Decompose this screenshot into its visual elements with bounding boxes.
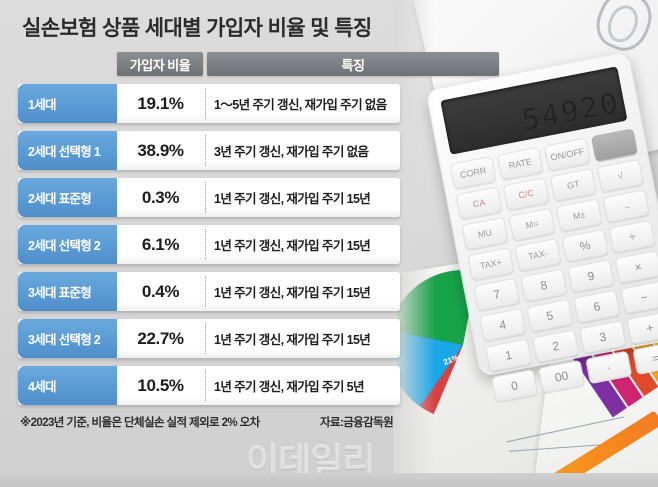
row-generation-label: 3세대 표준형 [18, 272, 117, 311]
row-feature-text: 1년 주기 갱신, 재가입 주기 15년 [214, 319, 396, 358]
row-divider [205, 323, 206, 354]
row-generation-label: 4세대 [18, 366, 117, 405]
row-ratio-value: 22.7% [117, 319, 204, 358]
row-ratio-value: 0.4% [117, 272, 204, 311]
row-generation-label: 2세대 선택형 2 [18, 225, 117, 264]
table-row: 2세대 선택형 1 38.9% 3년 주기 갱신, 재가입 주기 없음 [18, 131, 400, 170]
row-feature-text: 1〜5년 주기 갱신, 재가입 주기 없음 [214, 84, 396, 123]
column-header-feature: 특징 [207, 52, 499, 76]
row-generation-label: 3세대 선택형 2 [18, 319, 117, 358]
data-table: 가입자 비율 특징 1세대 19.1% 1〜5년 주기 갱신, 재가입 주기 없… [18, 52, 400, 405]
table-row: 4세대 10.5% 1년 주기 갱신, 재가입 주기 5년 [18, 366, 400, 405]
bottom-strip [0, 473, 658, 487]
infographic-root: 21% 54920 CORRRATEON/OFF CAC/CGT√ MUM=M±… [0, 0, 658, 487]
table-row: 1세대 19.1% 1〜5년 주기 갱신, 재가입 주기 없음 [18, 84, 400, 123]
table-header-row: 가입자 비율 특징 [117, 52, 400, 76]
row-divider [205, 182, 206, 213]
table-row: 2세대 표준형 0.3% 1년 주기 갱신, 재가입 주기 15년 [18, 178, 400, 217]
row-ratio-value: 0.3% [117, 178, 204, 217]
row-feature-text: 1년 주기 갱신, 재가입 주기 15년 [214, 178, 396, 217]
row-feature-text: 1년 주기 갱신, 재가입 주기 15년 [214, 225, 396, 264]
row-generation-label: 2세대 선택형 1 [18, 131, 117, 170]
row-divider [205, 370, 206, 401]
calculator-keypad: CORRRATEON/OFF CAC/CGT√ MUM=M±→ TAX+TAX-… [450, 128, 658, 365]
table-row: 2세대 선택형 2 6.1% 1년 주기 갱신, 재가입 주기 15년 [18, 225, 400, 264]
row-feature-text: 1년 주기 갱신, 재가입 주기 5년 [214, 366, 396, 405]
row-ratio-value: 6.1% [117, 225, 204, 264]
row-ratio-value: 19.1% [117, 84, 204, 123]
page-title: 실손보험 상품 세대별 가입자 비율 및 특징 [22, 12, 372, 42]
row-divider [205, 135, 206, 166]
source-text: 자료:금융감독원 [320, 414, 393, 430]
table-row: 3세대 표준형 0.4% 1년 주기 갱신, 재가입 주기 15년 [18, 272, 400, 311]
column-header-ratio: 가입자 비율 [117, 52, 203, 76]
row-divider [205, 229, 206, 260]
row-generation-label: 2세대 표준형 [18, 178, 117, 217]
row-feature-text: 1년 주기 갱신, 재가입 주기 15년 [214, 272, 396, 311]
pie-chart-label: 21% [442, 353, 460, 367]
row-ratio-value: 38.9% [117, 131, 204, 170]
table-row: 3세대 선택형 2 22.7% 1년 주기 갱신, 재가입 주기 15년 [18, 319, 400, 358]
row-generation-label: 1세대 [18, 84, 117, 123]
row-divider [205, 276, 206, 307]
footnote-text: ※2023년 기준, 비율은 단체실손 실적 제외로 2% 오차 [20, 414, 260, 430]
calculator-display: 54920 [519, 86, 622, 137]
row-feature-text: 3년 주기 갱신, 재가입 주기 없음 [214, 131, 396, 170]
row-ratio-value: 10.5% [117, 366, 204, 405]
row-divider [205, 88, 206, 119]
